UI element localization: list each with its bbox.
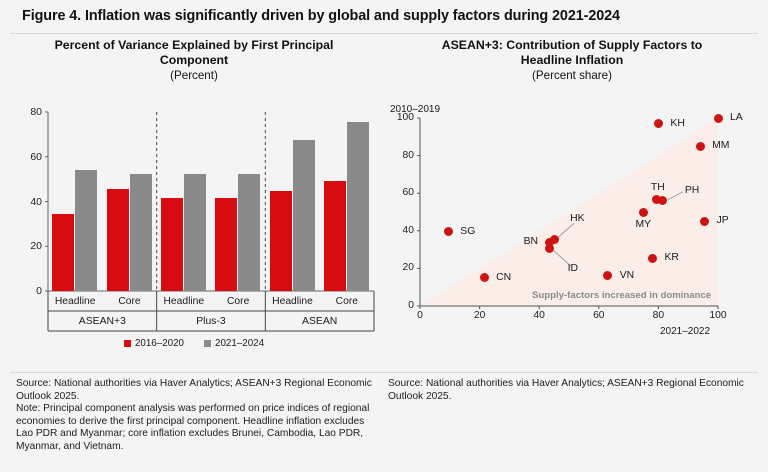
scatter-chart-subtitle: (Percent share)	[382, 68, 762, 83]
bar-category-label: Core	[102, 296, 156, 307]
panel-bar-chart: Percent of Variance Explained by First P…	[8, 38, 380, 368]
footnote-left: Source: National authorities via Haver A…	[16, 378, 378, 454]
scatter-point	[696, 142, 705, 151]
bar-y-tick-label: 80	[16, 107, 42, 117]
scatter-x-tick-label: 100	[705, 311, 731, 321]
bar-rect	[75, 170, 97, 291]
scatter-annotation: Supply-factors increased in dominance	[532, 290, 711, 301]
figure-container: Figure 4. Inflation was significantly dr…	[0, 0, 768, 472]
bar-category-label: Core	[211, 296, 265, 307]
scatter-point-label: SG	[460, 226, 475, 237]
bar-rect	[52, 214, 74, 291]
scatter-point-label: KH	[670, 118, 684, 129]
scatter-x-tick-label: 80	[645, 311, 671, 321]
scatter-y-tick-label: 40	[390, 226, 414, 236]
scatter-x-tick-label: 0	[407, 311, 433, 321]
legend-item: 2016–2020	[124, 338, 184, 349]
bar-y-tick-label: 40	[16, 197, 42, 207]
bar-chart-plot-area: 020406080HeadlineCoreHeadlineCoreHeadlin…	[8, 106, 380, 336]
scatter-point-label: HK	[570, 213, 584, 224]
scatter-chart-title: ASEAN+3: Contribution of Supply Factors …	[382, 38, 762, 68]
bar-y-tick-label: 20	[16, 241, 42, 251]
footnote-divider	[10, 372, 758, 373]
scatter-y-tick-label: 60	[390, 188, 414, 198]
legend-swatch-icon	[124, 340, 131, 347]
legend-item: 2021–2024	[204, 338, 264, 349]
scatter-point	[444, 227, 453, 236]
scatter-point-label: KR	[664, 252, 678, 263]
scatter-point-label: CN	[496, 272, 511, 283]
scatter-chart-title-line1: ASEAN+3: Contribution of Supply Factors …	[442, 38, 703, 52]
bar-y-tick-label: 0	[16, 286, 42, 296]
scatter-point-label: JP	[717, 215, 729, 226]
bar-category-label: Headline	[48, 296, 102, 307]
scatter-x-axis-label: 2021–2022	[660, 326, 710, 337]
bar-rect	[270, 191, 292, 291]
scatter-point	[714, 114, 723, 123]
legend-label: 2016–2020	[135, 338, 184, 349]
scatter-y-tick-label: 80	[390, 151, 414, 161]
scatter-point-label: ID	[568, 263, 578, 274]
scatter-chart-plot-area: 0204060801000204060801002010–20192021–20…	[382, 106, 762, 346]
bar-category-label: Core	[320, 296, 374, 307]
bar-group-label: Plus-3	[157, 316, 266, 327]
footnote-right: Source: National authorities via Haver A…	[388, 378, 760, 403]
bar-rect	[324, 181, 346, 291]
bar-rect	[184, 174, 206, 291]
scatter-point-label: VN	[620, 270, 634, 281]
scatter-point	[550, 235, 559, 244]
bar-chart-title: Percent of Variance Explained by First P…	[8, 38, 380, 68]
bar-rect	[293, 140, 315, 291]
bar-group-label: ASEAN	[265, 316, 374, 327]
scatter-chart-axes	[382, 106, 762, 346]
scatter-y-tick-label: 20	[390, 263, 414, 273]
bar-category-label: Headline	[265, 296, 319, 307]
bar-chart-title-line1: Percent of Variance Explained by First P…	[55, 38, 334, 52]
scatter-point	[480, 273, 489, 282]
legend-swatch-icon	[204, 340, 211, 347]
scatter-point	[648, 254, 657, 263]
scatter-point-label: MM	[712, 140, 729, 151]
scatter-point-label: LA	[730, 112, 743, 123]
scatter-x-tick-label: 40	[526, 311, 552, 321]
bar-category-label: Headline	[157, 296, 211, 307]
bar-group-label: ASEAN+3	[48, 316, 157, 327]
bar-rect	[107, 189, 129, 291]
legend-label: 2021–2024	[215, 338, 264, 349]
supply-dominance-region	[420, 118, 718, 306]
scatter-point-label: TH	[651, 182, 665, 193]
scatter-point	[639, 208, 648, 217]
scatter-point	[654, 119, 663, 128]
scatter-chart-title-line2: Headline Inflation	[521, 53, 623, 67]
bar-rect	[161, 198, 183, 291]
title-divider	[10, 33, 758, 34]
panel-scatter-chart: ASEAN+3: Contribution of Supply Factors …	[382, 38, 762, 368]
scatter-point-label: PH	[685, 185, 699, 196]
bar-rect	[215, 198, 237, 291]
scatter-point-label: BN	[524, 236, 538, 247]
bar-rect	[347, 122, 369, 291]
scatter-y-axis-label: 2010–2019	[390, 104, 440, 115]
bar-chart-subtitle: (Percent)	[8, 68, 380, 83]
scatter-point-label: MY	[636, 219, 652, 230]
scatter-x-tick-label: 20	[467, 311, 493, 321]
bar-rect	[238, 174, 260, 291]
bar-rect	[130, 174, 152, 291]
scatter-x-tick-label: 60	[586, 311, 612, 321]
bar-chart-legend: 2016–20202021–2024	[8, 338, 380, 349]
scatter-point	[700, 217, 709, 226]
bar-y-tick-label: 60	[16, 152, 42, 162]
figure-title: Figure 4. Inflation was significantly dr…	[22, 8, 746, 24]
scatter-y-tick-label: 0	[390, 301, 414, 311]
bar-chart-title-line2: Component	[160, 53, 228, 67]
